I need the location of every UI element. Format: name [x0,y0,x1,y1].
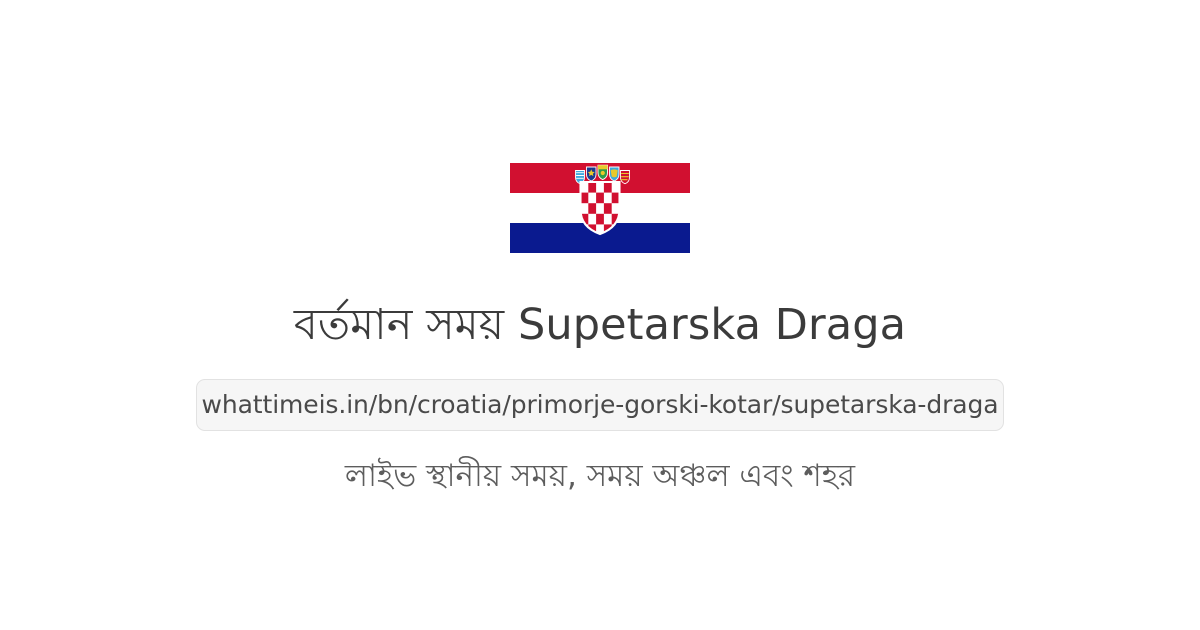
url-bar[interactable]: whattimeis.in/bn/croatia/primorje-gorski… [196,379,1004,431]
page-root: বর্তমান সময় Supetarska Draga whattimeis… [0,0,1200,630]
page-title: বর্তমান সময় Supetarska Draga [294,300,906,351]
page-subtitle: লাইভ স্থানীয় সময়, সময় অঞ্চল এবং শহর [345,456,855,496]
url-text: whattimeis.in/bn/croatia/primorje-gorski… [201,390,998,419]
croatia-flag [510,163,690,253]
croatia-flag-icon [510,163,690,253]
